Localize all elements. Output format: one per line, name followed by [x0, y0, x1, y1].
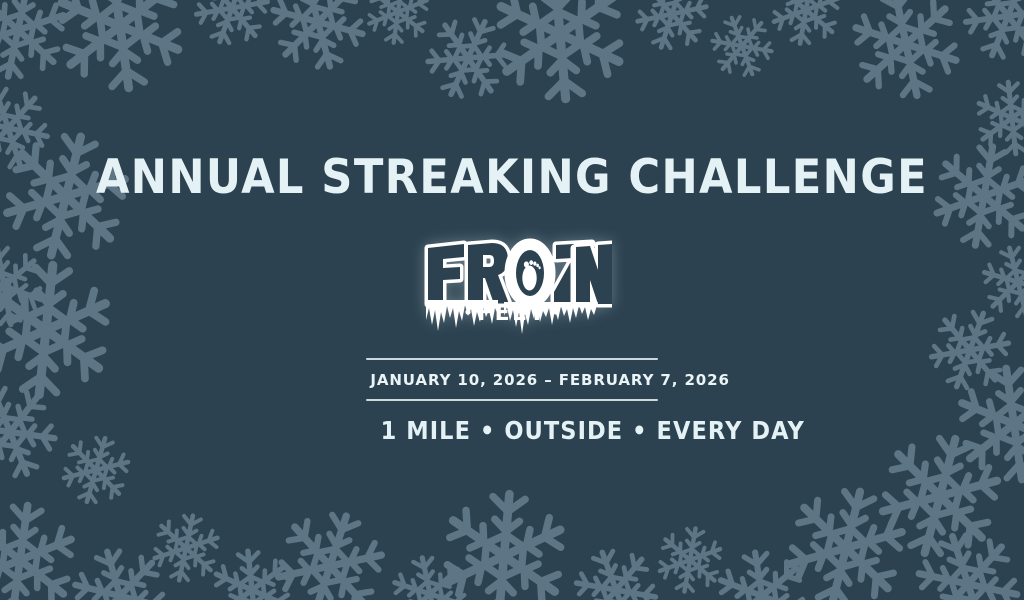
svg-text:FEET: FEET — [477, 301, 547, 326]
poster-canvas: ANNUAL STREAKING CHALLENGE — [0, 0, 1024, 600]
page-title: ANNUAL STREAKING CHALLENGE — [41, 154, 983, 201]
logo-wordmark-feet: FEET — [465, 301, 558, 326]
frozen-feet-logo: FEET — [412, 228, 612, 340]
event-details: JANUARY 10, 2026 – FEBRUARY 7, 2026 1 MI… — [366, 358, 658, 445]
logo-wordmark-frozen — [428, 242, 612, 304]
event-dates: JANUARY 10, 2026 – FEBRUARY 7, 2026 — [370, 360, 653, 399]
event-tagline: 1 MILE • OUTSIDE • EVERY DAY — [381, 401, 644, 445]
